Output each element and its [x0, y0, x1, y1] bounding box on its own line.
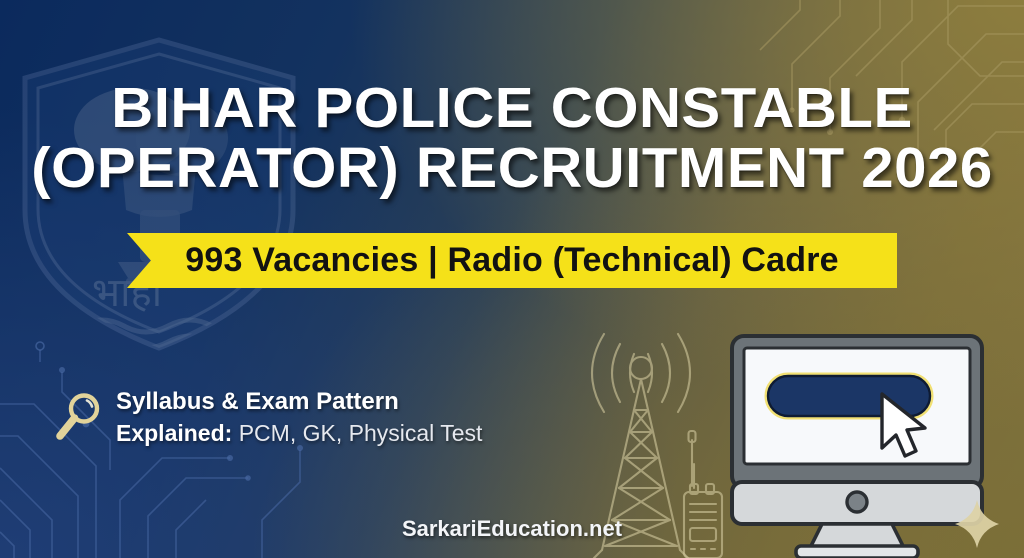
syllabus-subjects: PCM, GK, Physical Test [232, 420, 482, 446]
site-name: SarkariEducation.net [0, 516, 1024, 542]
syllabus-explained-label: Explained: [116, 420, 232, 446]
ribbon-label: 993 Vacancies | Radio (Technical) Cadre [185, 241, 839, 280]
search-icon [56, 391, 102, 443]
title-line-2: (OPERATOR) RECRUITMENT 2026 [0, 138, 1024, 198]
recruitment-banner: भाहो BIHAR POLICE CONSTABLE (OPERATOR) R… [0, 0, 1024, 558]
title-line-1: BIHAR POLICE CONSTABLE [0, 78, 1024, 138]
page-title: BIHAR POLICE CONSTABLE (OPERATOR) RECRUI… [0, 78, 1024, 198]
syllabus-heading: Syllabus & Exam Pattern [116, 386, 482, 418]
syllabus-callout: Syllabus & Exam Pattern Explained: PCM, … [56, 386, 482, 448]
syllabus-subheading: Explained: PCM, GK, Physical Test [116, 418, 482, 449]
vacancy-ribbon: 993 Vacancies | Radio (Technical) Cadre [127, 233, 897, 288]
police-shield-emblem: भाहो [14, 34, 304, 354]
